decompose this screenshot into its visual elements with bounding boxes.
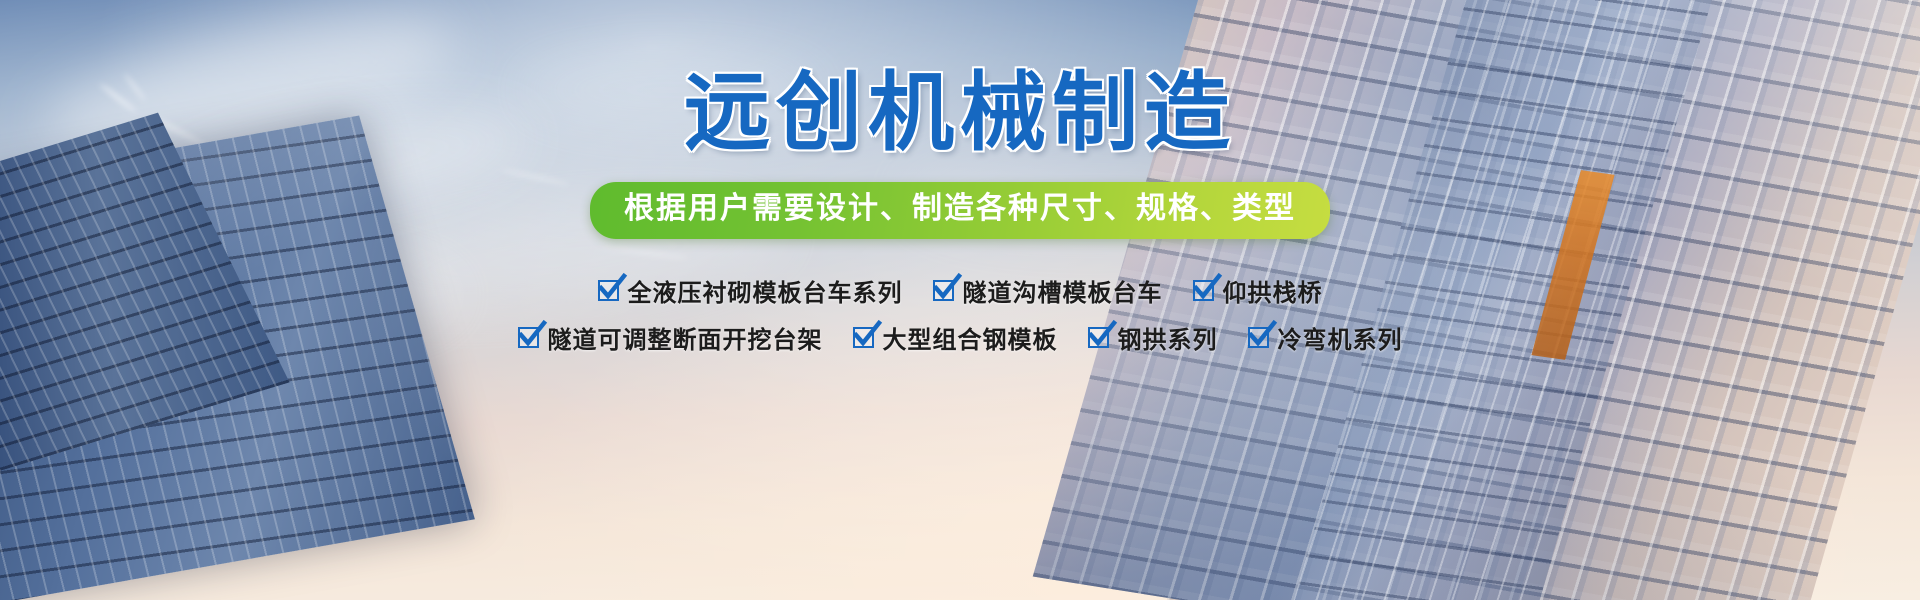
feature-label: 钢拱系列	[1118, 320, 1218, 355]
checkbox-checked-icon	[853, 327, 874, 348]
feature-item[interactable]: 隧道可调整断面开挖台架	[518, 320, 823, 355]
feature-item[interactable]: 仰拱栈桥	[1193, 273, 1323, 308]
feature-item[interactable]: 大型组合钢模板	[853, 320, 1058, 355]
feature-label: 全液压衬砌模板台车系列	[628, 273, 903, 308]
checkbox-checked-icon	[518, 327, 539, 348]
checkbox-checked-icon	[1088, 327, 1109, 348]
feature-item[interactable]: 钢拱系列	[1088, 320, 1218, 355]
feature-list: 全液压衬砌模板台车系列 隧道沟槽模板台车	[518, 273, 1403, 355]
feature-label: 冷弯机系列	[1278, 320, 1403, 355]
checkbox-checked-icon	[1248, 327, 1269, 348]
promotional-banner: 远创机械制造 根据用户需要设计、制造各种尺寸、规格、类型 全液压衬砌模板台车系列	[0, 0, 1920, 600]
checkbox-checked-icon	[598, 280, 619, 301]
feature-label: 隧道沟槽模板台车	[963, 273, 1163, 308]
feature-item[interactable]: 冷弯机系列	[1248, 320, 1403, 355]
checkbox-checked-icon	[933, 280, 954, 301]
feature-label: 大型组合钢模板	[883, 320, 1058, 355]
feature-label: 隧道可调整断面开挖台架	[548, 320, 823, 355]
feature-row-2: 隧道可调整断面开挖台架 大型组合钢模板	[518, 320, 1403, 355]
banner-title: 远创机械制造	[684, 70, 1236, 156]
banner-subtitle-pill: 根据用户需要设计、制造各种尺寸、规格、类型	[590, 182, 1330, 239]
feature-label: 仰拱栈桥	[1223, 273, 1323, 308]
banner-content: 远创机械制造 根据用户需要设计、制造各种尺寸、规格、类型 全液压衬砌模板台车系列	[0, 0, 1920, 600]
feature-item[interactable]: 隧道沟槽模板台车	[933, 273, 1163, 308]
feature-item[interactable]: 全液压衬砌模板台车系列	[598, 273, 903, 308]
feature-row-1: 全液压衬砌模板台车系列 隧道沟槽模板台车	[598, 273, 1323, 308]
checkbox-checked-icon	[1193, 280, 1214, 301]
